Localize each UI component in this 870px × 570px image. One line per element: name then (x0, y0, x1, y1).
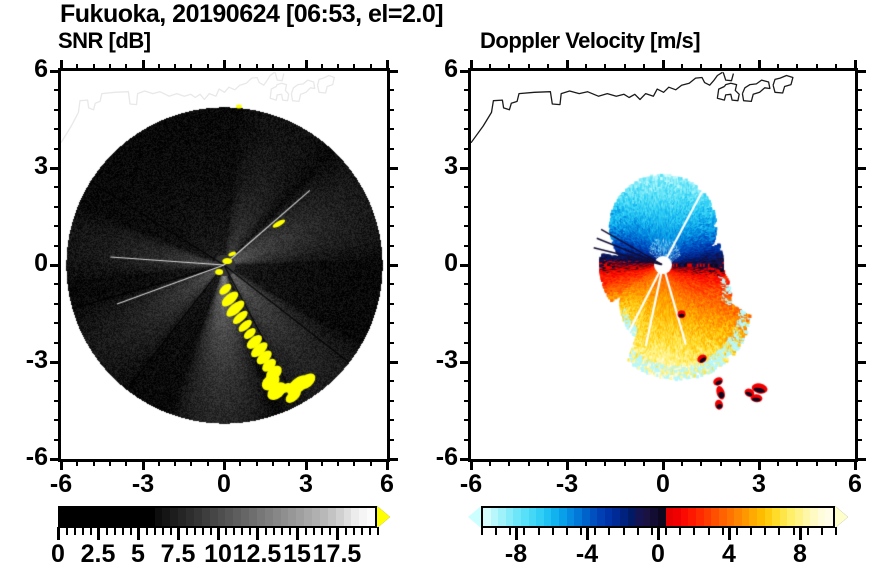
x-major-tick-top-0 (223, 60, 226, 71)
colorbar-swatch (673, 508, 681, 526)
x-major-tick-top-0 (662, 60, 665, 71)
colorbar-major-tick (586, 527, 589, 540)
x-minor-tick (604, 459, 606, 466)
y-minor-tick (387, 439, 394, 441)
y-minor-tick (464, 148, 471, 150)
x-minor-tick (528, 459, 530, 466)
x-minor-tick (796, 64, 798, 71)
colorbar-minor-tick (74, 527, 76, 535)
y-minor-tick (855, 400, 862, 402)
colorbar-minor-tick (679, 527, 681, 535)
colorbar-swatch (567, 508, 575, 526)
x-major-tick-top--3 (142, 60, 145, 71)
y-minor-tick (54, 283, 61, 285)
y-major-tick-right-0 (387, 264, 398, 267)
y-minor-tick (464, 225, 471, 227)
x-minor-tick (272, 64, 274, 71)
colorbar-minor-tick (162, 527, 164, 535)
colorbar-swatch (772, 508, 780, 526)
y-major-tick--3 (460, 361, 471, 364)
y-minor-tick (387, 342, 394, 344)
x-tick-label--3: -3 (113, 470, 173, 499)
colorbar-swatch (810, 508, 818, 526)
colorbar-swatch (233, 508, 241, 526)
x-tick-label-6: 6 (825, 470, 870, 499)
colorbar-swatch (162, 508, 170, 526)
x-minor-tick (624, 64, 626, 71)
y-minor-tick (54, 186, 61, 188)
y-minor-tick (855, 225, 862, 227)
snr-colorbar[interactable] (58, 506, 390, 528)
colorbar-minor-tick (523, 527, 525, 535)
y-minor-tick (387, 283, 394, 285)
y-minor-tick (54, 400, 61, 402)
x-tick-label-6: 6 (357, 470, 417, 499)
colorbar-swatch (544, 508, 552, 526)
x-minor-tick (700, 64, 702, 71)
colorbar-minor-tick (218, 527, 220, 535)
colorbar-minor-tick (66, 527, 68, 535)
x-minor-tick (547, 64, 549, 71)
colorbar-swatch (202, 508, 210, 526)
x-major-tick--3 (566, 459, 569, 470)
y-minor-tick (855, 148, 862, 150)
x-tick-label--6: -6 (31, 470, 91, 499)
colorbar-swatch (727, 508, 735, 526)
colorbar-minor-tick (241, 527, 243, 535)
y-minor-tick (387, 128, 394, 130)
colorbar-swatch (574, 508, 582, 526)
x-minor-tick (370, 64, 372, 71)
x-major-tick-0 (662, 459, 665, 470)
y-minor-tick (464, 419, 471, 421)
colorbar-swatch (536, 508, 544, 526)
colorbar-swatch (612, 508, 620, 526)
colorbar-tick-label: -4 (554, 540, 620, 569)
y-major-tick-right--3 (387, 361, 398, 364)
y-tick-label-right-6: 6 (412, 55, 458, 84)
colorbar-swatch (688, 508, 696, 526)
y-major-tick-6 (460, 70, 471, 73)
x-tick-label--6: -6 (441, 470, 501, 499)
coastline-segment (742, 80, 770, 101)
y-tick-label--3: -3 (2, 346, 48, 375)
x-minor-tick (76, 459, 78, 466)
colorbar-swatch (359, 508, 367, 526)
x-major-tick-3 (758, 459, 761, 470)
colorbar-minor-tick (807, 527, 809, 535)
y-minor-tick (387, 380, 394, 382)
x-minor-tick (508, 459, 510, 466)
colorbar-swatch (780, 508, 788, 526)
colorbar-minor-tick (736, 527, 738, 535)
y-minor-tick (855, 128, 862, 130)
snr-coastline-overlay (61, 71, 387, 459)
y-minor-tick (464, 322, 471, 324)
y-major-tick-0 (460, 264, 471, 267)
y-minor-tick (54, 439, 61, 441)
colorbar-swatch (131, 508, 139, 526)
colorbar-minor-tick (651, 527, 653, 535)
y-minor-tick (54, 128, 61, 130)
y-minor-tick (464, 89, 471, 91)
y-minor-tick (855, 245, 862, 247)
colorbar-swatch (620, 508, 628, 526)
y-major-tick-right-0 (855, 264, 866, 267)
doppler-plot-panel[interactable] (468, 68, 858, 462)
colorbar-minor-tick (538, 527, 540, 535)
colorbar-minor-tick (210, 527, 212, 535)
y-minor-tick (464, 186, 471, 188)
colorbar-swatch (551, 508, 559, 526)
coastline-segment (291, 80, 314, 101)
x-minor-tick (321, 64, 323, 71)
y-minor-tick (464, 400, 471, 402)
colorbar-swatch (491, 508, 499, 526)
y-major-tick-3 (460, 167, 471, 170)
y-minor-tick (387, 186, 394, 188)
y-minor-tick (54, 206, 61, 208)
y-minor-tick (464, 283, 471, 285)
colorbar-tick-label: 17.5 (304, 540, 370, 569)
colorbar-swatch (84, 508, 92, 526)
colorbar-swatch (529, 508, 537, 526)
colorbar-minor-tick (764, 527, 766, 535)
colorbar-swatch (696, 508, 704, 526)
colorbar-swatch (336, 508, 344, 526)
colorbar-swatch (115, 508, 123, 526)
colorbar-swatch (628, 508, 636, 526)
x-minor-tick (777, 64, 779, 71)
colorbar-minor-tick (202, 527, 204, 535)
colorbar-swatch (225, 508, 233, 526)
x-minor-tick (239, 64, 241, 71)
colorbar-swatch (186, 508, 194, 526)
y-minor-tick (387, 245, 394, 247)
colorbar-major-tick (799, 527, 802, 540)
colorbar-swatch (68, 508, 76, 526)
x-minor-tick (816, 459, 818, 466)
y-minor-tick (855, 342, 862, 344)
colorbar-tick-label: 4 (696, 540, 762, 569)
y-major-tick--3 (50, 361, 61, 364)
colorbar-swatch (734, 508, 742, 526)
x-minor-tick (835, 64, 837, 71)
colorbar-swatch (582, 508, 590, 526)
x-minor-tick (353, 459, 355, 466)
colorbar-swatch (344, 508, 352, 526)
colorbar-swatch (210, 508, 218, 526)
x-minor-tick (585, 459, 587, 466)
coastline-segment (773, 76, 793, 94)
colorbar-swatch (367, 508, 375, 526)
colorbar-minor-tick (566, 527, 568, 535)
y-tick-label--6: -6 (2, 443, 48, 472)
coastline-segment (717, 83, 739, 100)
colorbar-swatch (681, 508, 689, 526)
x-minor-tick (125, 64, 127, 71)
x-minor-tick (353, 64, 355, 71)
colorbar-minor-tick (361, 527, 363, 535)
colorbar-minor-tick (345, 527, 347, 535)
colorbar-swatch (288, 508, 296, 526)
y-tick-label-3: 3 (2, 152, 48, 181)
x-major-tick-6 (386, 459, 389, 470)
y-tick-label-right-0: 0 (412, 249, 458, 278)
y-minor-tick (54, 380, 61, 382)
doppler-colorbar[interactable] (468, 506, 848, 528)
x-minor-tick (739, 459, 741, 466)
x-minor-tick (256, 64, 258, 71)
coastline-segment (723, 72, 733, 80)
x-minor-tick (190, 459, 192, 466)
colorbar-swatch (650, 508, 658, 526)
colorbar-minor-tick (106, 527, 108, 535)
coastline-segment (270, 83, 289, 100)
x-minor-tick (585, 64, 587, 71)
colorbar-minor-tick (594, 527, 596, 535)
colorbar-minor-tick (249, 527, 251, 535)
colorbar-swatch (155, 508, 163, 526)
colorbar-swatch (757, 508, 765, 526)
x-minor-tick (681, 459, 683, 466)
colorbar-minor-tick (750, 527, 752, 535)
x-tick-label-0: 0 (633, 470, 693, 499)
colorbar-swatch (483, 508, 491, 526)
colorbar-minor-tick (289, 527, 291, 535)
colorbar-swatch (241, 508, 249, 526)
x-minor-tick (109, 64, 111, 71)
colorbar-swatch (304, 508, 312, 526)
y-minor-tick (387, 322, 394, 324)
colorbar-minor-tick (90, 527, 92, 535)
colorbar-minor-tick (353, 527, 355, 535)
colorbar-swatch (513, 508, 521, 526)
y-minor-tick (855, 419, 862, 421)
colorbar-swatch (787, 508, 795, 526)
y-minor-tick (464, 380, 471, 382)
colorbar-minor-tick (552, 527, 554, 535)
y-minor-tick (464, 303, 471, 305)
y-major-tick--6 (50, 458, 61, 461)
y-minor-tick (387, 303, 394, 305)
y-minor-tick (855, 186, 862, 188)
colorbar-swatch (281, 508, 289, 526)
y-minor-tick (387, 109, 394, 111)
colorbar-minor-tick (708, 527, 710, 535)
colorbar-minor-tick (281, 527, 283, 535)
x-major-tick--3 (142, 459, 145, 470)
y-minor-tick (855, 283, 862, 285)
y-minor-tick (464, 206, 471, 208)
colorbar-minor-tick (114, 527, 116, 535)
y-minor-tick (54, 419, 61, 421)
colorbar-minor-tick (313, 527, 315, 535)
snr-panel-subtitle: SNR [dB] (58, 28, 151, 54)
colorbar-minor-tick (58, 527, 60, 535)
x-minor-tick (816, 64, 818, 71)
colorbar-minor-tick (778, 527, 780, 535)
colorbar-swatch (818, 508, 826, 526)
colorbar-minor-tick (194, 527, 196, 535)
colorbar-minor-tick (608, 527, 610, 535)
colorbar-swatch (351, 508, 359, 526)
x-tick-label-0: 0 (194, 470, 254, 499)
colorbar-swatch (704, 508, 712, 526)
x-minor-tick (288, 459, 290, 466)
y-major-tick-3 (50, 167, 61, 170)
x-minor-tick (547, 459, 549, 466)
colorbar-minor-tick (98, 527, 100, 535)
x-minor-tick (796, 459, 798, 466)
y-minor-tick (54, 89, 61, 91)
x-minor-tick (489, 64, 491, 71)
coastline-segment (61, 72, 275, 143)
colorbar-minor-tick (273, 527, 275, 535)
colorbar-minor-tick (122, 527, 124, 535)
colorbar-minor-tick (793, 527, 795, 535)
colorbar-minor-tick (265, 527, 267, 535)
x-minor-tick (643, 459, 645, 466)
x-major-tick-top-3 (758, 60, 761, 71)
colorbar-swatch (147, 508, 155, 526)
colorbar-swatch (273, 508, 281, 526)
doppler-colorbar-under-arrow (468, 506, 481, 528)
doppler-coastline-overlay (471, 71, 855, 459)
colorbar-minor-tick (637, 527, 639, 535)
colorbar-minor-tick (225, 527, 227, 535)
y-minor-tick (54, 342, 61, 344)
colorbar-swatch (635, 508, 643, 526)
snr-plot-panel[interactable] (58, 68, 390, 462)
x-tick-label--3: -3 (537, 470, 597, 499)
page-title: Fukuoka, 20190624 [06:53, el=2.0] (60, 0, 443, 29)
x-major-tick-top--3 (566, 60, 569, 71)
colorbar-minor-tick (369, 527, 371, 535)
y-minor-tick (387, 419, 394, 421)
y-tick-label-right--3: -3 (412, 346, 458, 375)
colorbar-minor-tick (377, 527, 379, 535)
y-minor-tick (464, 342, 471, 344)
x-major-tick-0 (223, 459, 226, 470)
colorbar-tick-label: 0 (625, 540, 691, 569)
colorbar-minor-tick (580, 527, 582, 535)
colorbar-minor-tick (722, 527, 724, 535)
x-minor-tick (190, 64, 192, 71)
colorbar-minor-tick (130, 527, 132, 535)
x-minor-tick (321, 459, 323, 466)
colorbar-swatch (590, 508, 598, 526)
coastline-segment (318, 76, 335, 94)
doppler-panel-subtitle: Doppler Velocity [m/s] (480, 28, 700, 54)
colorbar-swatch (92, 508, 100, 526)
x-minor-tick (256, 459, 258, 466)
x-minor-tick (125, 459, 127, 466)
y-minor-tick (855, 206, 862, 208)
x-minor-tick (681, 64, 683, 71)
colorbar-minor-tick (509, 527, 511, 535)
x-minor-tick (720, 459, 722, 466)
snr-colorbar-over-arrow (377, 506, 390, 528)
colorbar-major-tick (515, 527, 518, 540)
y-minor-tick (464, 245, 471, 247)
y-major-tick-right-6 (387, 70, 398, 73)
radar-figure: Fukuoka, 20190624 [06:53, el=2.0] SNR [d… (0, 0, 870, 570)
x-minor-tick (109, 459, 111, 466)
y-major-tick-right-3 (855, 167, 866, 170)
colorbar-minor-tick (178, 527, 180, 535)
colorbar-swatch (76, 508, 84, 526)
colorbar-swatch (249, 508, 257, 526)
colorbar-swatch (643, 508, 651, 526)
colorbar-swatch (749, 508, 757, 526)
y-minor-tick (855, 322, 862, 324)
y-tick-label-6: 6 (2, 55, 48, 84)
x-minor-tick (528, 64, 530, 71)
y-minor-tick (855, 89, 862, 91)
colorbar-minor-tick (481, 527, 483, 535)
x-minor-tick (777, 459, 779, 466)
x-minor-tick (158, 64, 160, 71)
x-minor-tick (624, 459, 626, 466)
x-minor-tick (643, 64, 645, 71)
y-major-tick--6 (460, 458, 471, 461)
x-minor-tick (207, 64, 209, 71)
x-minor-tick (835, 459, 837, 466)
colorbar-swatch (742, 508, 750, 526)
colorbar-minor-tick (495, 527, 497, 535)
y-major-tick-right--3 (855, 361, 866, 364)
coastline-segment (275, 72, 284, 80)
x-minor-tick (207, 459, 209, 466)
colorbar-minor-tick (297, 527, 299, 535)
colorbar-minor-tick (821, 527, 823, 535)
y-major-tick-right-6 (855, 70, 866, 73)
colorbar-minor-tick (321, 527, 323, 535)
snr-colorbar-gradient (58, 506, 377, 528)
y-major-tick-0 (50, 264, 61, 267)
y-tick-label-0: 0 (2, 249, 48, 278)
x-minor-tick (604, 64, 606, 71)
colorbar-minor-tick (623, 527, 625, 535)
x-minor-tick (700, 459, 702, 466)
colorbar-swatch (498, 508, 506, 526)
colorbar-swatch (605, 508, 613, 526)
y-minor-tick (387, 89, 394, 91)
x-minor-tick (93, 64, 95, 71)
colorbar-swatch (218, 508, 226, 526)
y-minor-tick (54, 148, 61, 150)
x-minor-tick (174, 459, 176, 466)
colorbar-swatch (60, 508, 68, 526)
colorbar-major-tick (657, 527, 660, 540)
y-minor-tick (387, 400, 394, 402)
colorbar-major-tick (728, 527, 731, 540)
colorbar-swatch (123, 508, 131, 526)
x-minor-tick (337, 64, 339, 71)
y-minor-tick (387, 225, 394, 227)
colorbar-swatch (666, 508, 674, 526)
x-major-tick-top-3 (305, 60, 308, 71)
y-tick-label-right-3: 3 (412, 152, 458, 181)
x-minor-tick (288, 64, 290, 71)
colorbar-swatch (99, 508, 107, 526)
y-tick-label-right--6: -6 (412, 443, 458, 472)
colorbar-swatch (107, 508, 115, 526)
colorbar-minor-tick (693, 527, 695, 535)
colorbar-minor-tick (146, 527, 148, 535)
y-minor-tick (54, 322, 61, 324)
